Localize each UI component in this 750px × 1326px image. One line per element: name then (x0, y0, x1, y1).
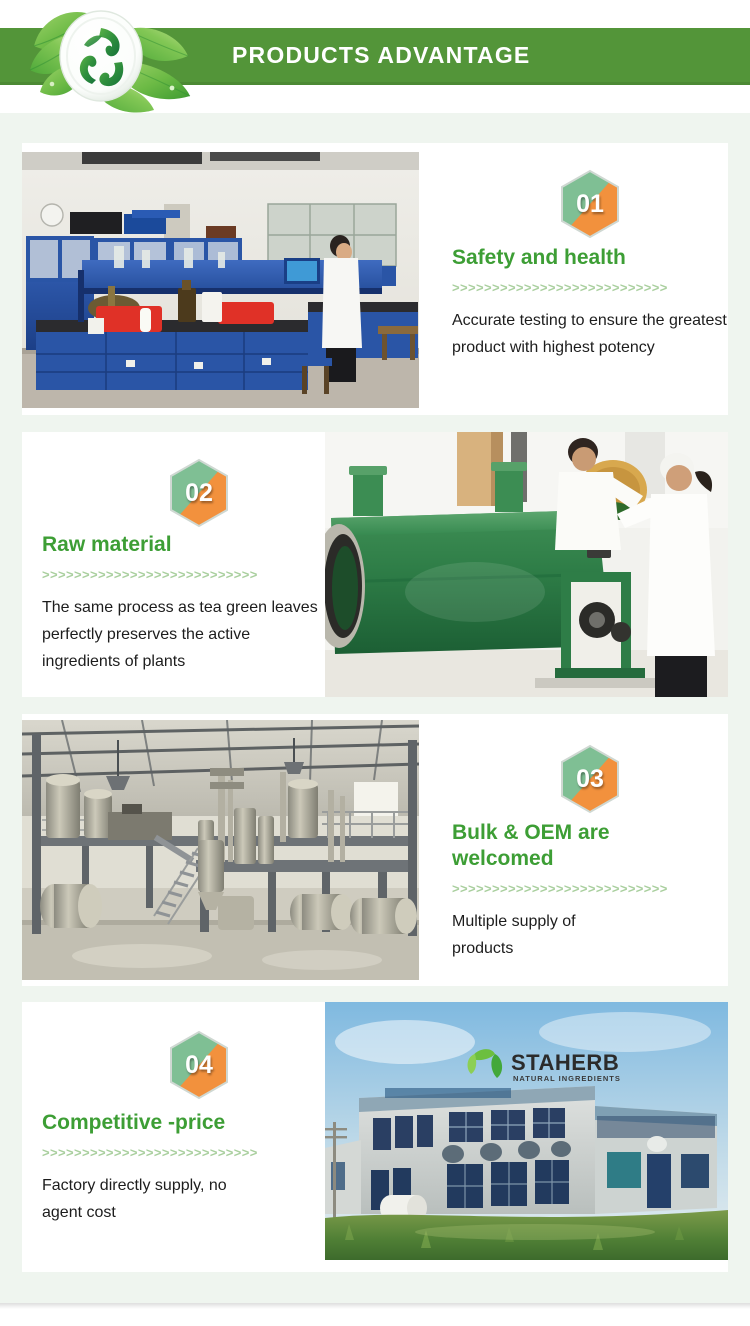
card-04-badge: 04 (168, 1030, 230, 1100)
advantage-card-03: 03 Bulk & OEM are welcomed >>>>>>>>>>>>>… (22, 714, 728, 986)
hex-badge-icon: 02 (168, 458, 230, 528)
card-04-title: Competitive -price (42, 1110, 332, 1136)
card-01-text: 01 Safety and health >>>>>>>>>>>>>>>>>>>… (452, 169, 728, 361)
advantage-card-01: 01 Safety and health >>>>>>>>>>>>>>>>>>>… (22, 143, 728, 415)
card-03-divider: >>>>>>>>>>>>>>>>>>>>>>>>>>> (452, 881, 728, 897)
card-04-text: 04 Competitive -price >>>>>>>>>>>>>>>>>>… (42, 1030, 332, 1226)
factory-sign-brand: STAHERB (511, 1050, 619, 1075)
card-02-title: Raw material (42, 532, 332, 558)
card-01-number: 01 (559, 169, 621, 239)
card-03-number: 03 (559, 744, 621, 814)
factory-building-photo: STAHERB NATURAL INGREDIENTS (325, 1002, 728, 1260)
card-04-divider: >>>>>>>>>>>>>>>>>>>>>>>>>>> (42, 1145, 332, 1161)
tea-roasting-photo (325, 432, 728, 697)
card-01-description: Accurate testing to ensure the greatest … (452, 307, 728, 361)
page-bottom-strip (0, 1303, 750, 1326)
card-03-badge: 03 (559, 744, 621, 814)
card-02-badge: 02 (168, 458, 230, 528)
staherb-leaf-logo-icon (22, 0, 222, 113)
card-02-number: 02 (168, 458, 230, 528)
card-03-description: Multiple supply of products (452, 908, 622, 962)
card-04-description: Factory directly supply, no agent cost (42, 1172, 262, 1226)
lab-photo (22, 152, 419, 408)
card-04-number: 04 (168, 1030, 230, 1100)
card-01-title: Safety and health (452, 245, 728, 271)
card-01-divider: >>>>>>>>>>>>>>>>>>>>>>>>>>> (452, 280, 728, 296)
card-02-text: 02 Raw material >>>>>>>>>>>>>>>>>>>>>>>>… (42, 458, 332, 675)
card-01-badge: 01 (559, 169, 621, 239)
card-02-divider: >>>>>>>>>>>>>>>>>>>>>>>>>>> (42, 567, 332, 583)
hex-badge-icon: 04 (168, 1030, 230, 1100)
factory-sign-tagline: NATURAL INGREDIENTS (513, 1074, 621, 1083)
hex-badge-icon: 03 (559, 744, 621, 814)
page-title: PRODUCTS ADVANTAGE (232, 42, 530, 69)
card-03-text: 03 Bulk & OEM are welcomed >>>>>>>>>>>>>… (452, 744, 728, 962)
advantage-card-02: 02 Raw material >>>>>>>>>>>>>>>>>>>>>>>>… (22, 432, 728, 697)
card-03-title: Bulk & OEM are welcomed (452, 820, 662, 872)
page-header: PRODUCTS ADVANTAGE (0, 0, 750, 113)
product-advantage-page: PRODUCTS ADVANTAGE (0, 0, 750, 1326)
hex-badge-icon: 01 (559, 169, 621, 239)
card-02-description: The same process as tea green leaves per… (42, 594, 332, 675)
advantage-card-04: STAHERB NATURAL INGREDIENTS (22, 1002, 728, 1272)
factory-interior-photo (22, 720, 419, 980)
